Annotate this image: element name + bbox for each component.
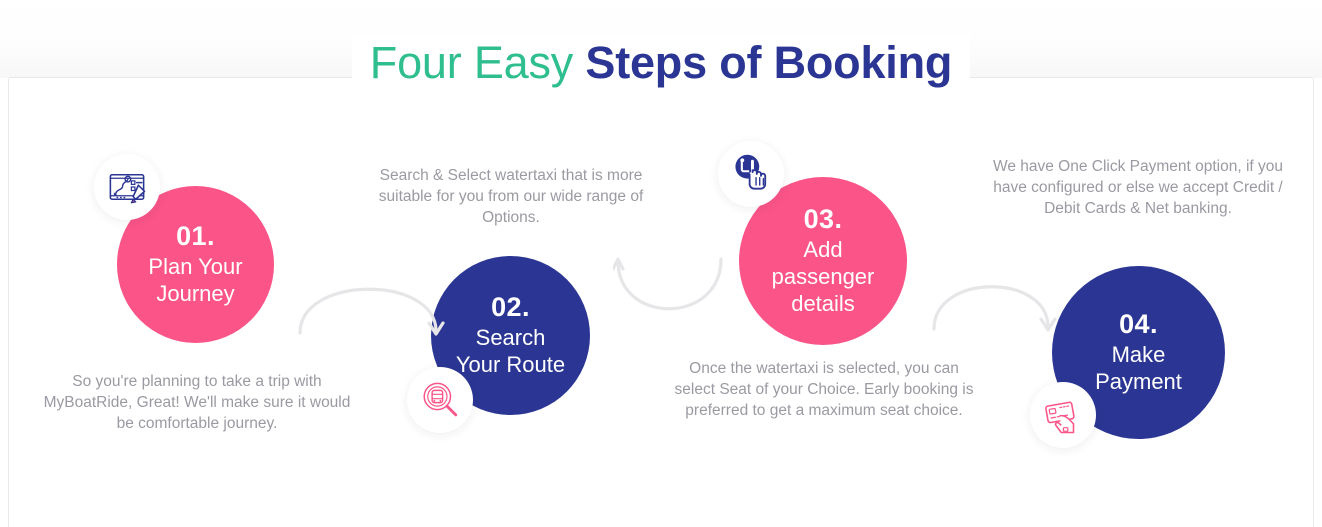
booking-steps-page: Four Easy Steps of Booking 01. xyxy=(0,0,1322,527)
connector-1-to-2 xyxy=(296,255,446,337)
page-title-accent: Four Easy xyxy=(370,37,586,88)
step-03-label-line1: Add xyxy=(803,237,842,262)
step-04-number: 04. xyxy=(1119,309,1158,340)
step-03-label-line2: passenger xyxy=(772,264,875,289)
credit-card-hand-icon xyxy=(1042,394,1084,436)
step-02-icon-badge xyxy=(407,367,473,433)
step-01-label: Plan Your Journey xyxy=(138,254,252,308)
step-02-description: Search & Select watertaxi that is more s… xyxy=(355,165,667,229)
step-03-label-line3: details xyxy=(791,291,855,316)
step-03-number: 03. xyxy=(804,204,843,235)
step-01-number: 01. xyxy=(176,221,215,252)
page-title-main: Steps of Booking xyxy=(585,37,952,88)
step-02-label-line1: Search xyxy=(476,325,546,350)
search-vehicle-icon xyxy=(419,379,461,421)
connector-3-to-4 xyxy=(930,257,1060,339)
steps-container: 01. Plan Your Journey xyxy=(0,77,1322,527)
step-03-icon-badge xyxy=(718,141,784,207)
step-04-description: We have One Click Payment option, if you… xyxy=(985,156,1291,220)
map-route-pencil-icon xyxy=(106,166,148,208)
step-01-description: So you're planning to take a trip with M… xyxy=(38,371,356,435)
step-02-label: Search Your Route xyxy=(446,325,575,379)
step-04-label: Make Payment xyxy=(1085,342,1192,396)
step-02-number: 02. xyxy=(491,292,530,323)
step-01-label-line2: Journey xyxy=(156,281,234,306)
step-03-label: Add passenger details xyxy=(762,237,885,317)
page-title: Four Easy Steps of Booking xyxy=(0,40,1322,85)
step-04-icon-badge xyxy=(1030,382,1096,448)
step-04-label-line1: Make xyxy=(1112,342,1166,367)
step-03-description: Once the watertaxi is selected, you can … xyxy=(668,358,980,422)
connector-2-to-3 xyxy=(613,255,728,337)
step-02-label-line2: Your Route xyxy=(456,352,565,377)
step-04-label-line2: Payment xyxy=(1095,369,1182,394)
seat-click-icon xyxy=(729,152,773,196)
step-01-label-line1: Plan Your xyxy=(148,254,242,279)
step-01-icon-badge xyxy=(94,154,160,220)
